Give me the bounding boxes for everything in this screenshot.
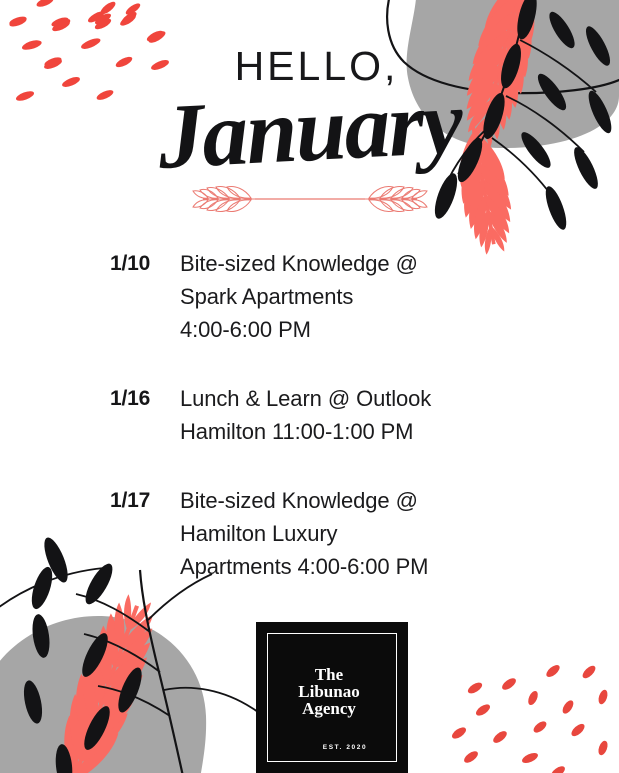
event-item: 1/17 Bite-sized Knowledge @ Hamilton Lux…: [110, 484, 540, 583]
event-description: Bite-sized Knowledge @ Spark Apartments …: [180, 247, 540, 346]
event-date: 1/16: [110, 382, 180, 415]
event-description: Lunch & Learn @ Outlook Hamilton 11:00-1…: [180, 382, 540, 448]
logo-line-1: The: [256, 666, 402, 683]
fern-frond-bottom-left: [43, 588, 168, 773]
event-date: 1/10: [110, 247, 180, 280]
gray-blob-bottom-left: [0, 616, 206, 773]
event-date: 1/17: [110, 484, 180, 517]
flyer-canvas: HELLO, January: [0, 0, 619, 773]
agency-logo[interactable]: The Libunao Agency EST. 2020: [256, 622, 408, 773]
logo-line-3: Agency: [256, 700, 402, 717]
event-list: 1/10 Bite-sized Knowledge @ Spark Apartm…: [110, 247, 540, 583]
flyer-header: HELLO, January: [0, 46, 619, 178]
divider-wrapper: [0, 178, 619, 225]
logo-established-text: EST. 2020: [256, 744, 408, 751]
event-description: Bite-sized Knowledge @ Hamilton Luxury A…: [180, 484, 540, 583]
petal-scatter-bottom-right: [450, 663, 609, 773]
logo-wordmark: The Libunao Agency: [256, 666, 408, 717]
laurel-branch-divider-icon: [185, 178, 435, 220]
event-item: 1/16 Lunch & Learn @ Outlook Hamilton 11…: [110, 382, 540, 448]
event-item: 1/10 Bite-sized Knowledge @ Spark Apartm…: [110, 247, 540, 346]
logo-line-2: Libunao: [256, 683, 402, 700]
